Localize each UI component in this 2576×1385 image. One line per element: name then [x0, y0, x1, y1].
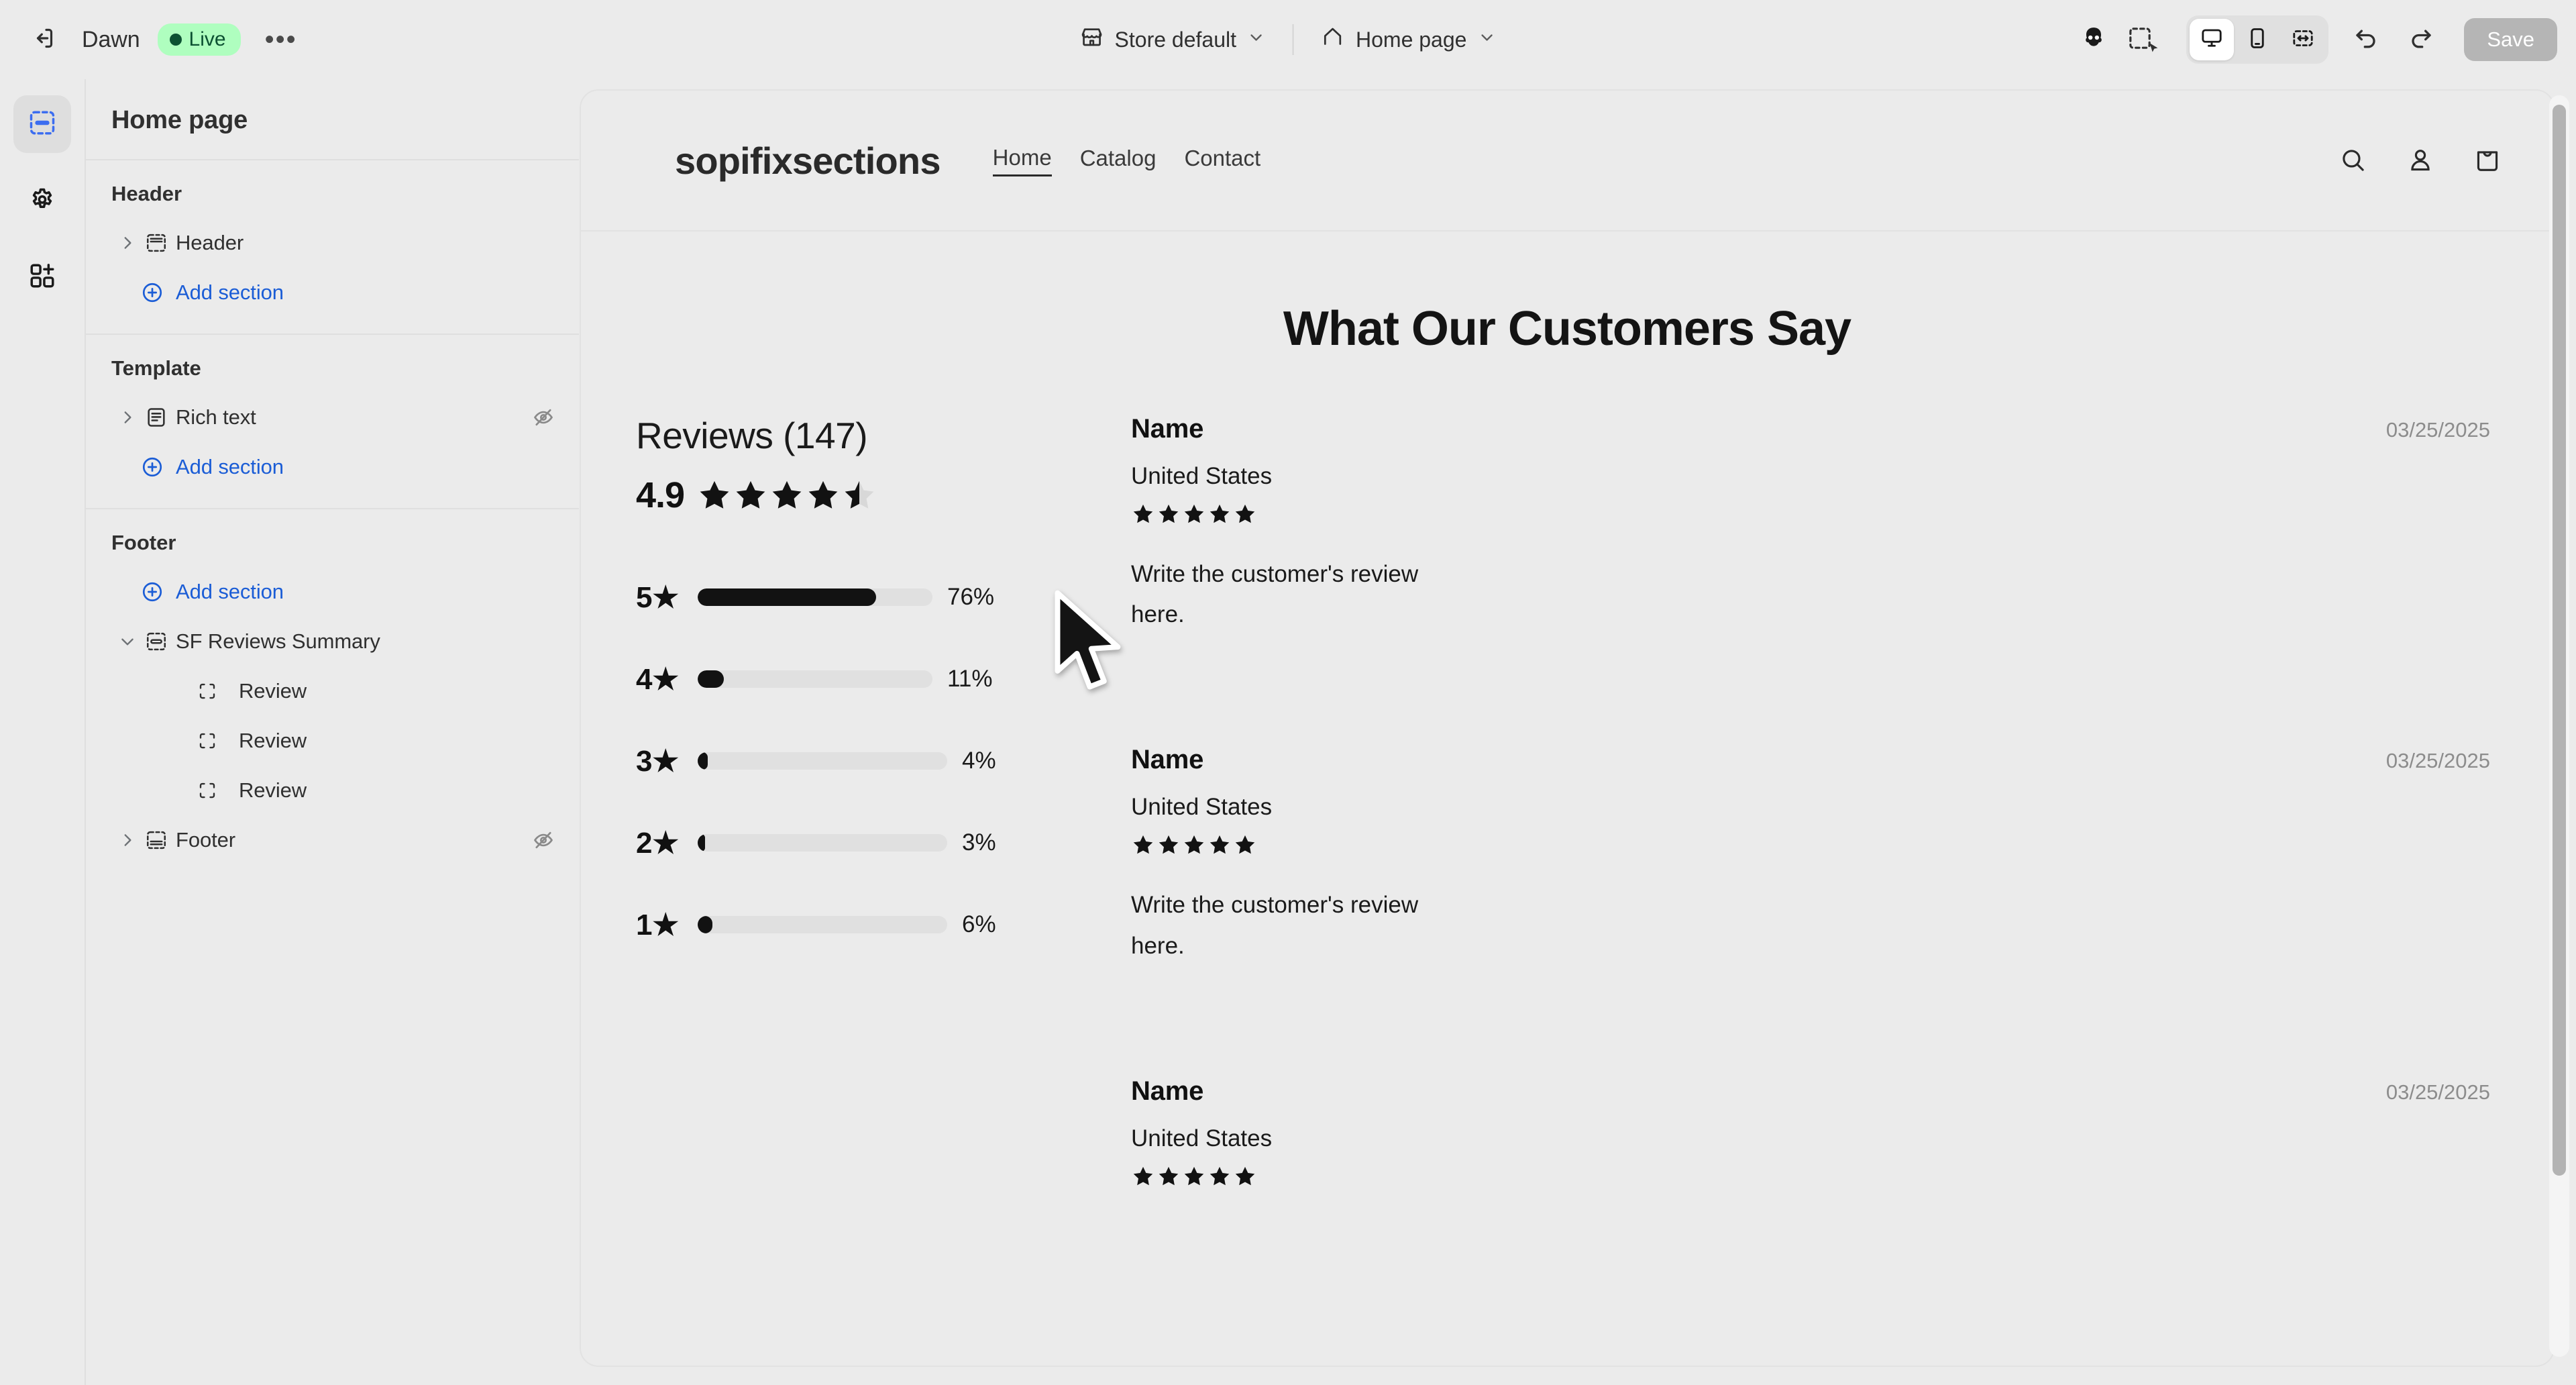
sidebar-group-header: Header Header Add section: [86, 160, 579, 335]
page-selector[interactable]: Home page: [1306, 17, 1511, 62]
left-icon-rail: [0, 79, 85, 1385]
gear-icon: [28, 185, 57, 217]
review-author-name: Name: [1131, 1076, 2490, 1107]
sidebar-group-footer: Footer Add section SF Reviews Summary: [86, 509, 579, 881]
section-heading: What Our Customers Say: [581, 301, 2553, 356]
star-icon: [1157, 833, 1181, 857]
sidebar-subitem-review-2[interactable]: Review: [106, 716, 564, 766]
top-bar-right: Save: [2070, 15, 2557, 64]
rating-bar-percent: 11%: [947, 666, 992, 692]
review-spacer: [1131, 1003, 2490, 1076]
rating-bar-percent: 6%: [962, 911, 996, 938]
block-icon: [192, 780, 223, 801]
store-selector[interactable]: Store default: [1065, 17, 1281, 62]
inspector-avatar-icon: [2080, 25, 2107, 55]
page-selector-label: Home page: [1356, 28, 1466, 52]
star-icon: [1233, 1164, 1257, 1188]
add-section-label: Add section: [176, 280, 284, 305]
chevron-down-icon: [1247, 28, 1266, 52]
rating-distribution-chart: 5★ 76% 4★ 11%: [636, 578, 1131, 944]
sidebar-subitem-review-1[interactable]: Review: [106, 666, 564, 716]
rating-bar-track: [698, 834, 947, 852]
add-section-footer-button[interactable]: Add section: [106, 567, 564, 617]
storefront-header: sopifixsections Home Catalog Contact: [581, 91, 2553, 232]
preview-scrollbar-track[interactable]: [2549, 95, 2569, 1357]
top-bar-left: Dawn Live •••: [0, 15, 303, 64]
star-icon: [1131, 502, 1155, 526]
reviews-body: Reviews (147) 4.9: [581, 414, 2553, 1225]
review-text: Write the customer's review here.: [1131, 554, 1446, 635]
rating-bar-label: 5★: [636, 580, 688, 615]
rating-bar-row: 5★ 76%: [636, 578, 1131, 617]
star-icon: [1182, 833, 1206, 857]
sidebar-item-label: Rich text: [176, 405, 532, 429]
mobile-icon: [2245, 26, 2269, 54]
rating-bar-star-count: 4★: [636, 662, 679, 697]
sidebar-item-label: Footer: [176, 828, 532, 852]
home-icon: [1321, 25, 1345, 54]
plus-circle-icon: [141, 281, 164, 304]
review-card: 03/25/2025 Name United States Write the …: [1131, 745, 2490, 1002]
rating-bar-row: 3★ 4%: [636, 741, 1131, 780]
rating-bar-star-count: 1★: [636, 908, 679, 942]
theme-name[interactable]: Dawn: [82, 27, 140, 53]
undo-icon: [2353, 25, 2379, 55]
sections-icon: [28, 108, 57, 141]
save-button[interactable]: Save: [2464, 18, 2557, 61]
star-icon: [1182, 502, 1206, 526]
sidebar-group-label: Template: [86, 352, 579, 393]
store-icon: [1080, 25, 1104, 54]
rating-bar-fill: [698, 670, 724, 688]
review-author-name: Name: [1131, 745, 2490, 775]
star-icon: [1131, 833, 1155, 857]
reviews-count-title: Reviews (147): [636, 414, 1131, 457]
exit-icon: [30, 25, 56, 55]
sidebar-item-header[interactable]: Header: [106, 218, 564, 268]
chevron-right-icon[interactable]: [114, 234, 141, 252]
star-icon: [733, 477, 769, 513]
more-options-button[interactable]: •••: [260, 18, 303, 61]
rating-bar-star-count: 5★: [636, 580, 679, 615]
add-section-header-button[interactable]: Add section: [106, 268, 564, 317]
review-spacer: [1131, 671, 2490, 745]
block-icon: [192, 731, 223, 751]
rating-bar-label: 1★: [636, 908, 688, 942]
sidebar-subitem-review-3[interactable]: Review: [106, 766, 564, 815]
chevron-right-icon[interactable]: [114, 409, 141, 426]
star-icon: [696, 477, 733, 513]
review-author-name: Name: [1131, 414, 2490, 444]
add-section-label: Add section: [176, 580, 284, 604]
rail-item-sections[interactable]: [13, 95, 71, 153]
footer-section-icon: [141, 829, 172, 852]
review-country: United States: [1131, 463, 2490, 490]
inspector-avatar-button[interactable]: [2070, 15, 2118, 64]
header-section-icon: [141, 232, 172, 254]
sidebar-subitem-label: Review: [239, 729, 564, 753]
sidebar-group-template: Template Rich text: [86, 335, 579, 509]
average-rating-stars: [696, 477, 877, 513]
theme-preview-frame: sopifixsections Home Catalog Contact: [581, 91, 2553, 1366]
plus-circle-icon: [141, 580, 164, 603]
account-icon[interactable]: [2406, 146, 2435, 175]
status-badge-label: Live: [189, 28, 226, 51]
rating-bar-percent: 76%: [947, 584, 994, 611]
hidden-eye-icon[interactable]: [532, 829, 555, 852]
rating-bar-star-count: 3★: [636, 744, 679, 778]
desktop-icon: [2200, 26, 2224, 54]
rating-bar-track: [698, 752, 947, 770]
star-half-icon: [841, 477, 877, 513]
sidebar-subitem-label: Review: [239, 679, 564, 703]
star-icon: [1207, 502, 1232, 526]
top-bar: Dawn Live ••• Store default: [0, 0, 2576, 79]
star-icon: [769, 477, 805, 513]
rating-bar-track: [698, 670, 932, 688]
redo-button[interactable]: [2397, 15, 2445, 64]
reviews-list-column: 03/25/2025 Name United States Write the …: [1131, 414, 2553, 1225]
top-bar-divider: [1293, 24, 1294, 55]
average-rating-row: 4.9: [636, 474, 1131, 516]
review-card: 03/25/2025 Name United States: [1131, 1076, 2490, 1225]
reviews-summary-column: Reviews (147) 4.9: [581, 414, 1131, 1225]
review-date: 03/25/2025: [2386, 418, 2490, 442]
nav-link-catalog[interactable]: Catalog: [1080, 146, 1157, 175]
star-icon: [1207, 833, 1232, 857]
rating-bar-fill: [698, 916, 712, 933]
star-icon: [1157, 1164, 1181, 1188]
apps-add-icon: [28, 261, 57, 294]
rating-bar-row: 1★ 6%: [636, 905, 1131, 944]
chevron-down-icon[interactable]: [114, 633, 141, 650]
nav-link-home[interactable]: Home: [993, 145, 1052, 176]
device-toggle-group: [2186, 15, 2328, 64]
add-section-label: Add section: [176, 455, 284, 479]
sidebar-group-label: Footer: [86, 527, 579, 567]
device-fullwidth-button[interactable]: [2281, 19, 2325, 60]
rating-bar-label: 4★: [636, 662, 688, 697]
plus-circle-icon: [141, 456, 164, 478]
undo-button[interactable]: [2342, 15, 2390, 64]
rating-bar-label: 3★: [636, 744, 688, 778]
rating-bar-fill: [698, 588, 876, 606]
block-icon: [192, 681, 223, 701]
sidebar-subitem-label: Review: [239, 778, 564, 803]
rating-bar-track: [698, 916, 947, 933]
star-icon: [1131, 1164, 1155, 1188]
select-element-button[interactable]: [2125, 15, 2173, 64]
rating-bar-fill: [698, 834, 705, 852]
sidebar-item-label: Header: [176, 231, 555, 255]
store-logo[interactable]: sopifixsections: [675, 139, 941, 183]
select-element-icon: [2127, 25, 2171, 55]
average-rating-value: 4.9: [636, 474, 684, 516]
search-icon[interactable]: [2339, 146, 2368, 175]
chevron-down-icon: [1477, 28, 1496, 52]
storefront-header-icons: [2339, 146, 2502, 175]
star-icon: [1182, 1164, 1206, 1188]
sidebar-item-label: SF Reviews Summary: [176, 629, 555, 654]
store-selector-label: Store default: [1115, 28, 1236, 52]
sidebar-item-footer[interactable]: Footer: [106, 815, 564, 865]
rating-bar-percent: 4%: [962, 748, 996, 774]
exit-editor-button[interactable]: [19, 15, 67, 64]
star-icon: [805, 477, 841, 513]
rating-bar-row: 2★ 3%: [636, 823, 1131, 862]
review-stars: [1131, 833, 2490, 857]
rating-bar-label: 2★: [636, 826, 688, 860]
sidebar-group-label: Header: [86, 178, 579, 218]
sidebar-item-rich-text[interactable]: Rich text: [106, 393, 564, 442]
rating-bar-percent: 3%: [962, 829, 996, 856]
app-block-icon: [141, 630, 172, 653]
hidden-eye-icon[interactable]: [532, 406, 555, 429]
review-country: United States: [1131, 1125, 2490, 1152]
star-icon: [1157, 502, 1181, 526]
star-icon: [1207, 1164, 1232, 1188]
rail-item-theme-settings[interactable]: [13, 172, 71, 229]
device-mobile-button[interactable]: [2235, 19, 2279, 60]
preview-scrollbar-thumb[interactable]: [2553, 105, 2566, 1176]
page-title: Home page: [86, 79, 579, 160]
redo-icon: [2408, 25, 2434, 55]
rich-text-icon: [141, 406, 172, 429]
cart-icon[interactable]: [2473, 146, 2502, 175]
review-text: Write the customer's review here.: [1131, 885, 1446, 966]
review-card: 03/25/2025 Name United States Write the …: [1131, 414, 2490, 671]
device-desktop-button[interactable]: [2190, 19, 2234, 60]
rating-bar-track: [698, 588, 932, 606]
top-bar-center: Store default Home page: [1065, 17, 1511, 62]
star-icon: [1233, 833, 1257, 857]
nav-link-contact[interactable]: Contact: [1184, 146, 1260, 175]
review-country: United States: [1131, 794, 2490, 821]
review-date: 03/25/2025: [2386, 1080, 2490, 1105]
rating-bar-fill: [698, 752, 708, 770]
review-stars: [1131, 502, 2490, 526]
sections-sidebar: Home page Header Header Add section: [85, 79, 579, 1385]
add-section-template-button[interactable]: Add section: [106, 442, 564, 492]
chevron-right-icon[interactable]: [114, 831, 141, 849]
review-stars: [1131, 1164, 2490, 1188]
review-date: 03/25/2025: [2386, 749, 2490, 773]
storefront-nav: Home Catalog Contact: [993, 145, 1261, 176]
status-badge: Live: [158, 23, 241, 56]
fullwidth-icon: [2291, 26, 2315, 54]
rail-item-apps[interactable]: [13, 248, 71, 306]
live-dot-icon: [170, 34, 182, 46]
rating-bar-row: 4★ 11%: [636, 660, 1131, 699]
rating-bar-star-count: 2★: [636, 826, 679, 860]
star-icon: [1233, 502, 1257, 526]
sidebar-item-sf-reviews-summary[interactable]: SF Reviews Summary: [106, 617, 564, 666]
